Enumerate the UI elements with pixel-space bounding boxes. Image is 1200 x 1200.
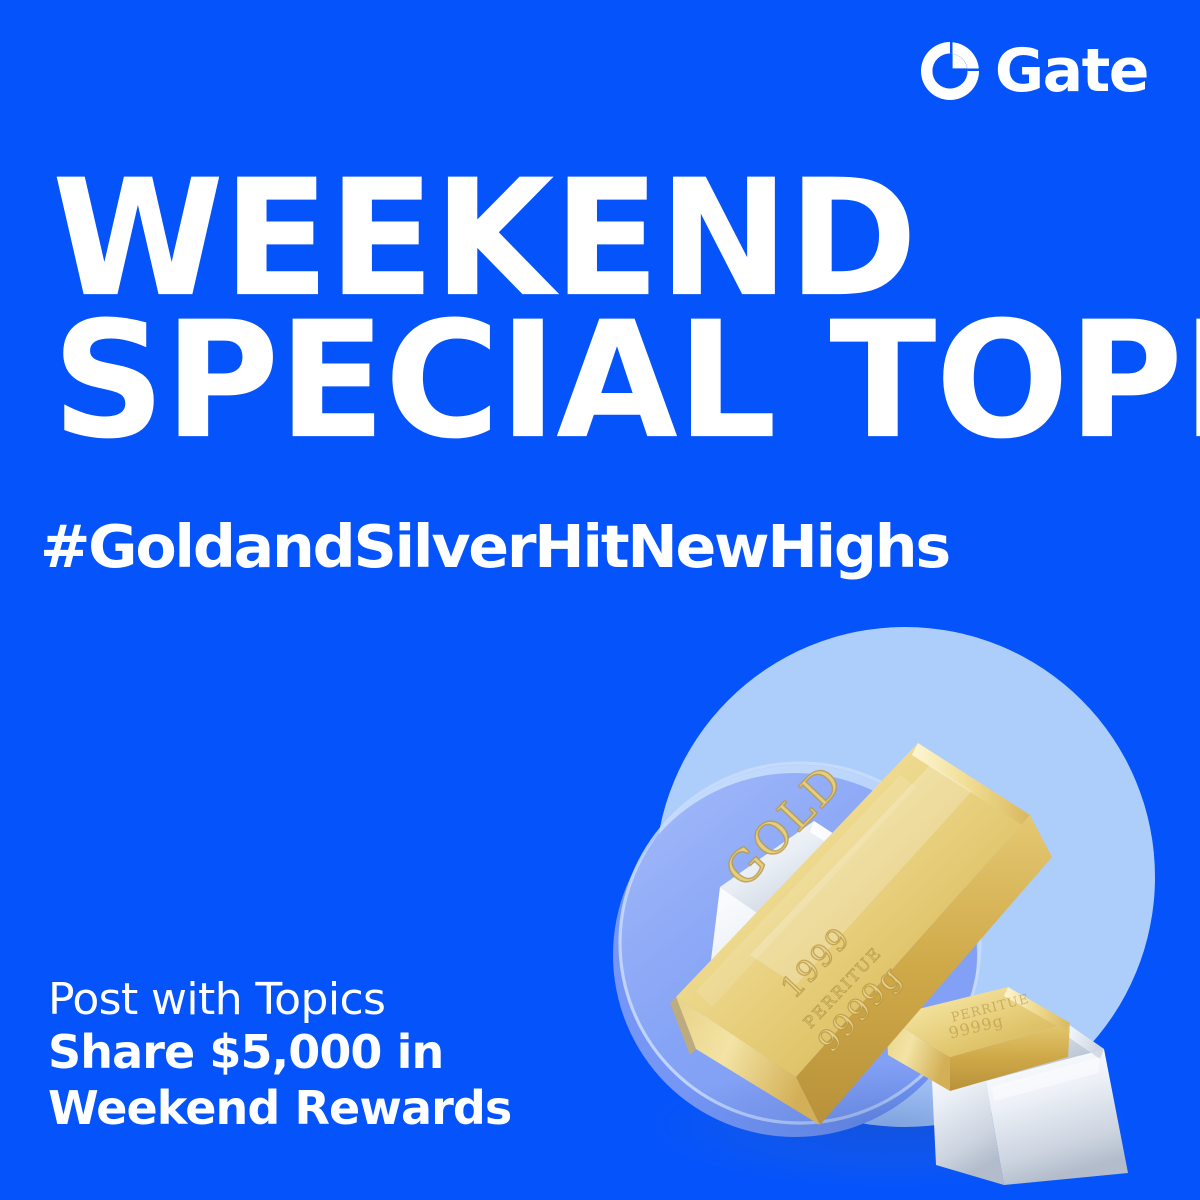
bullion-illustration: PERRITUE 9999g bbox=[600, 625, 1200, 1200]
headline-line-2: SPECIAL TOPIC bbox=[52, 310, 1200, 452]
gate-wordmark: Gate bbox=[995, 41, 1148, 101]
promo-line-1: Post with Topics bbox=[48, 975, 511, 1024]
promo-line-2: Share $5,000 in bbox=[48, 1024, 511, 1080]
campaign-hashtag: #GoldandSilverHitNewHighs bbox=[40, 512, 949, 581]
promo-copy-block: Post with Topics Share $5,000 in Weekend… bbox=[48, 975, 511, 1136]
promo-poster: Gate WEEKEND SPECIAL TOPIC #GoldandSilve… bbox=[0, 0, 1200, 1200]
gate-logo[interactable]: Gate bbox=[919, 40, 1148, 102]
headline-block: WEEKEND SPECIAL TOPIC bbox=[52, 168, 1184, 444]
bullion-artwork: PERRITUE 9999g bbox=[600, 625, 1200, 1200]
gate-circle-notch-icon bbox=[919, 40, 981, 102]
promo-line-3: Weekend Rewards bbox=[48, 1080, 511, 1136]
